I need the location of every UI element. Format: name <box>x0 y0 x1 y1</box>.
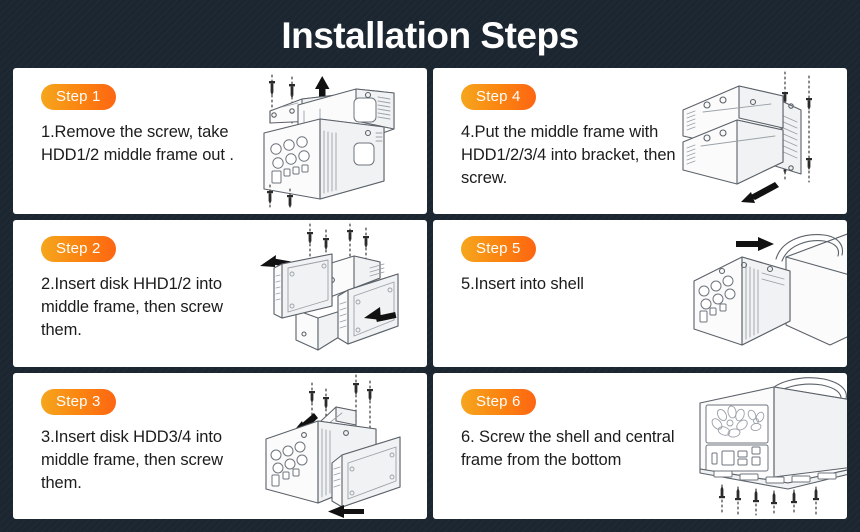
step-description-4: 4.Put the middle frame with HDD1/2/3/4 i… <box>461 121 678 190</box>
step-card-4-text: Step 4 4.Put the middle frame with HDD1/… <box>433 68 678 214</box>
direction-arrow-right <box>736 237 774 251</box>
step-card-2[interactable]: Step 2 2.Insert disk HHD1/2 into middle … <box>13 220 427 366</box>
step-card-5[interactable]: Step 5 5.Insert into shell <box>433 220 847 366</box>
step-card-2-text: Step 2 2.Insert disk HHD1/2 into middle … <box>13 220 258 366</box>
step-badge-3: Step 3 <box>41 389 116 415</box>
direction-arrow-left-bottom <box>328 505 364 518</box>
step-illustration-4 <box>678 68 847 214</box>
step-card-1[interactable]: Step 1 1.Remove the screw, take HDD1/2 m… <box>13 68 427 214</box>
step-card-4[interactable]: Step 4 4.Put the middle frame with HDD1/… <box>433 68 847 214</box>
page-title: Installation Steps <box>0 14 860 58</box>
step-badge-1: Step 1 <box>41 84 116 110</box>
installation-steps-poster: Installation Steps Step 1 1.Remove the s… <box>0 0 860 532</box>
bottom-screws <box>719 485 819 515</box>
step-card-6[interactable]: Step 6 6. Screw the shell and central fr… <box>433 373 847 519</box>
chassis-body <box>694 257 790 345</box>
step-description-2: 2.Insert disk HHD1/2 into middle frame, … <box>41 273 258 342</box>
chassis-body <box>264 119 384 199</box>
step-badge-2: Step 2 <box>41 236 116 262</box>
step-card-1-text: Step 1 1.Remove the screw, take HDD1/2 m… <box>13 68 258 214</box>
step-description-3: 3.Insert disk HDD3/4 into middle frame, … <box>41 426 258 495</box>
direction-arrow-down-left <box>741 182 779 203</box>
step-card-6-text: Step 6 6. Screw the shell and central fr… <box>433 373 678 519</box>
step-badge-4: Step 4 <box>461 84 536 110</box>
step-illustration-3: HDD <box>258 373 427 519</box>
step-description-6: 6. Screw the shell and central frame fro… <box>461 426 678 472</box>
steps-grid: Step 1 1.Remove the screw, take HDD1/2 m… <box>13 68 847 519</box>
step-illustration-1 <box>258 68 427 214</box>
step-card-3[interactable]: Step 3 3.Insert disk HDD3/4 into middle … <box>13 373 427 519</box>
step-illustration-5 <box>678 220 847 366</box>
step-card-3-text: Step 3 3.Insert disk HDD3/4 into middle … <box>13 373 258 519</box>
step-badge-5: Step 5 <box>461 236 536 262</box>
step-description-1: 1.Remove the screw, take HDD1/2 middle f… <box>41 121 258 167</box>
front-panel <box>706 405 768 471</box>
step-badge-6: Step 6 <box>461 389 536 415</box>
hdd-left <box>274 254 332 318</box>
step-illustration-2: HDD <box>258 220 427 366</box>
step-card-5-text: Step 5 5.Insert into shell <box>433 220 678 366</box>
step-illustration-6 <box>678 373 847 519</box>
step-description-5: 5.Insert into shell <box>461 273 678 296</box>
